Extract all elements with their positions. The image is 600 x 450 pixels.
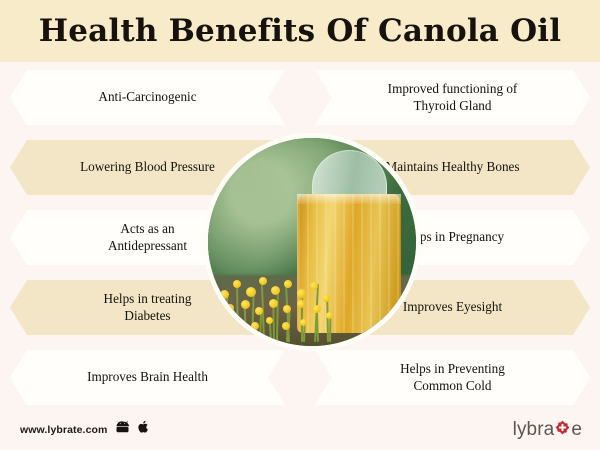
flower-bloom (297, 289, 306, 298)
benefit-badge: Helps in PreventingCommon Cold (315, 350, 590, 405)
flower-bloom (255, 307, 263, 315)
flower-bloom (233, 280, 241, 288)
flower-bloom (226, 304, 234, 312)
center-image-frame (203, 133, 421, 351)
flower-bloom (241, 300, 250, 309)
flower-bloom (326, 312, 333, 319)
oil-surface (297, 194, 401, 203)
page-title: Health Benefits Of Canola Oil (0, 0, 600, 62)
flower-bloom (246, 287, 256, 297)
benefit-badge: Improves Brain Health (10, 350, 285, 405)
flower-stem (326, 297, 328, 342)
flower-stem (276, 288, 279, 342)
lybrate-logo[interactable]: lybra e (513, 419, 582, 441)
medical-cross-icon (555, 419, 570, 441)
flower-stem (236, 282, 239, 342)
brand-prefix: lybra (513, 419, 555, 441)
flower-bloom (297, 300, 305, 308)
flower-bloom (313, 305, 321, 313)
apple-icon[interactable] (138, 420, 150, 439)
flower-bloom (323, 295, 330, 302)
flower-bloom (300, 319, 307, 326)
footer: www.lybrate.com lybra e (0, 412, 600, 450)
flower-stem (224, 292, 228, 342)
benefit-badge: Anti-Carcinogenic (10, 70, 285, 125)
flower-bloom (284, 280, 292, 288)
flower-bloom (282, 322, 290, 330)
flower-bloom (235, 319, 242, 326)
canola-oil-photo (208, 138, 416, 346)
header-band: Health Benefits Of Canola Oil (0, 0, 600, 62)
benefit-badge: Improved functioning ofThyroid Gland (315, 70, 590, 125)
footer-left-group: www.lybrate.com (20, 420, 150, 439)
flower-bloom (251, 322, 259, 330)
brand-suffix: e (571, 419, 582, 441)
android-icon[interactable] (116, 420, 129, 439)
site-url[interactable]: www.lybrate.com (20, 424, 107, 436)
flower-bloom (269, 299, 278, 308)
rapeseed-flowers (212, 259, 341, 342)
flower-bloom (259, 277, 267, 285)
flower-bloom (271, 286, 280, 295)
